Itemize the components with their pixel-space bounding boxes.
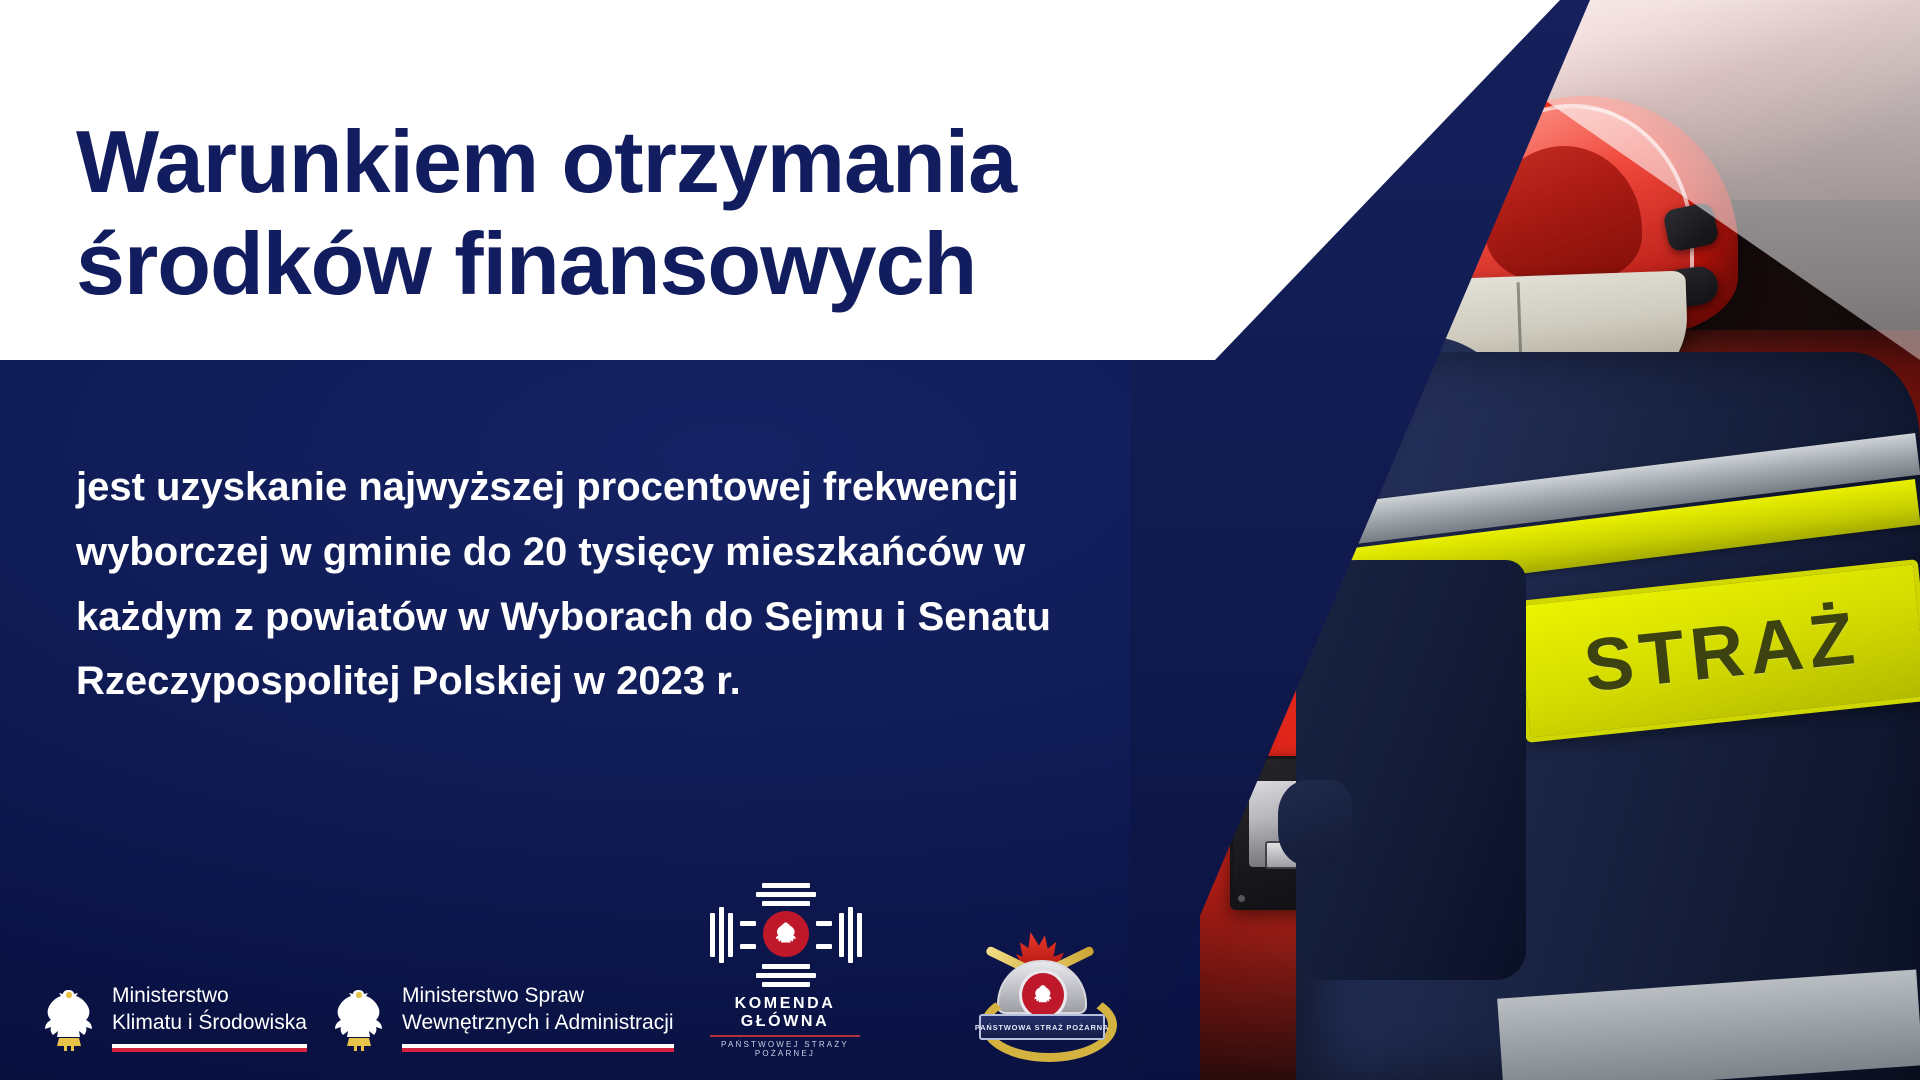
logo-psp-badge: PAŃSTWOWA STRAŻ POŻARNA bbox=[975, 932, 1105, 1056]
logo-ministry-climate-text: Ministerstwo Klimatu i Środowiska bbox=[112, 983, 307, 1052]
body-line-2: wyborczej w gminie do 20 tysięcy mieszka… bbox=[76, 520, 1256, 585]
logo-ministry-interior-text: Ministerstwo Spraw Wewnętrznych i Admini… bbox=[402, 983, 674, 1052]
logo-line-2: Wewnętrznych i Administracji bbox=[402, 1010, 674, 1037]
headline-line-1: Warunkiem otrzymania bbox=[76, 111, 1336, 213]
logo-kg-psp: KOMENDA GŁÓWNA PAŃSTWOWEJ STRAŻY POŻARNE… bbox=[690, 883, 880, 1058]
kg-psp-cross-icon bbox=[710, 883, 860, 987]
psp-ribbon-label: PAŃSTWOWA STRAŻ POŻARNA bbox=[975, 1023, 1109, 1032]
jacket-arm bbox=[1296, 560, 1526, 980]
logo-line-2: Klimatu i Środowiska bbox=[112, 1010, 307, 1037]
kg-psp-divider bbox=[710, 1035, 860, 1037]
poster-canvas: STRAŻ Warunkiem otrzymania środków finan… bbox=[0, 0, 1920, 1080]
straz-patch-label: STRAŻ bbox=[1580, 594, 1864, 707]
headline-line-2: środków finansowych bbox=[76, 213, 1336, 315]
footer-logos: Ministerstwo Klimatu i Środowiska Minist… bbox=[0, 928, 1130, 1058]
polish-eagle-icon bbox=[330, 986, 388, 1052]
polish-eagle-icon bbox=[40, 986, 98, 1052]
polish-flag-bar bbox=[112, 1044, 307, 1052]
body-line-1: jest uzyskanie najwyższej procentowej fr… bbox=[76, 455, 1256, 520]
psp-emblem-icon: PAŃSTWOWA STRAŻ POŻARNA bbox=[975, 932, 1105, 1056]
polish-flag-bar bbox=[402, 1044, 674, 1052]
body-line-3: każdym z powiatów w Wyborach do Sejmu i … bbox=[76, 585, 1256, 650]
body-text: jest uzyskanie najwyższej procentowej fr… bbox=[76, 455, 1256, 714]
kg-psp-eagle-icon bbox=[763, 911, 809, 957]
page-title: Warunkiem otrzymania środków finansowych bbox=[76, 111, 1336, 315]
kg-psp-subtitle: PAŃSTWOWEJ STRAŻY POŻARNEJ bbox=[690, 1040, 880, 1058]
logo-ministry-interior: Ministerstwo Spraw Wewnętrznych i Admini… bbox=[330, 983, 674, 1052]
psp-ribbon: PAŃSTWOWA STRAŻ POŻARNA bbox=[979, 1014, 1105, 1040]
firefighter-hand bbox=[1278, 780, 1352, 866]
kg-psp-title: KOMENDA GŁÓWNA bbox=[690, 995, 880, 1031]
logo-line-1: Ministerstwo bbox=[112, 983, 307, 1010]
logo-line-1: Ministerstwo Spraw bbox=[402, 983, 674, 1010]
logo-ministry-climate: Ministerstwo Klimatu i Środowiska bbox=[40, 983, 307, 1052]
body-line-4: Rzeczypospolitej Polskiej w 2023 r. bbox=[76, 649, 1256, 714]
